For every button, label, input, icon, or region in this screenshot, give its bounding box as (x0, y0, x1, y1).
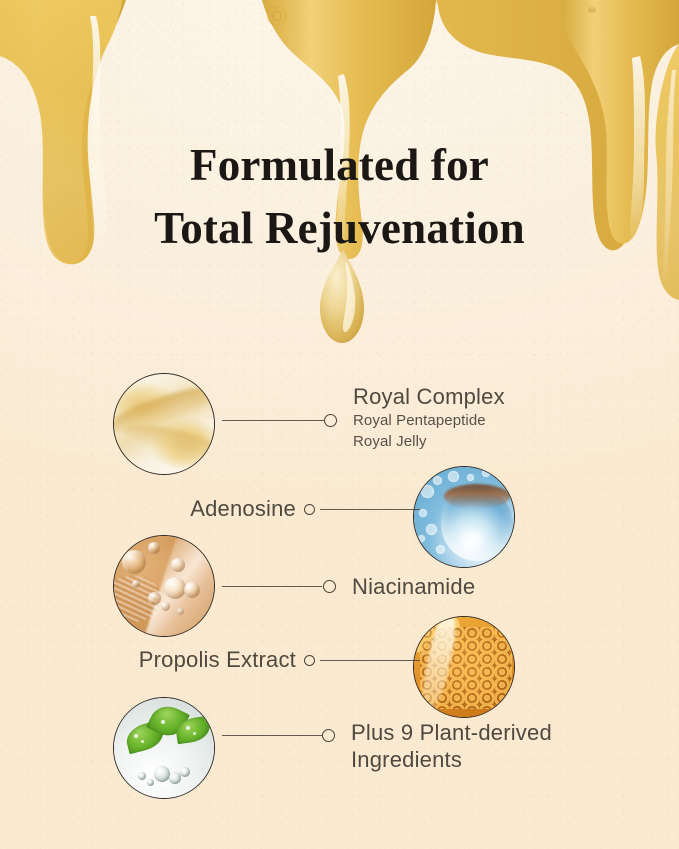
ingredient-label: Royal Complex (353, 384, 505, 410)
ingredient-labels: Propolis Extract (60, 647, 296, 673)
connector-dot (324, 414, 337, 427)
green-leaves-icon (113, 697, 215, 799)
connector-dot (323, 580, 336, 593)
blue-water-droplet-icon (413, 466, 515, 568)
ingredient-sublabel: Royal Jelly (353, 431, 505, 452)
ingredient-labels: Adenosine (80, 496, 296, 522)
ingredient-sublabel: Royal Pentapeptide (353, 410, 505, 431)
connector-dot (304, 655, 315, 666)
connector-line (222, 420, 324, 421)
ingredient-labels: Royal Complex Royal Pentapeptide Royal J… (353, 384, 505, 452)
ingredient-label-line1: Plus 9 Plant-derived (351, 719, 591, 746)
connector-line (320, 509, 420, 510)
connector-line (222, 735, 322, 736)
connector-dot (322, 729, 335, 742)
ingredient-labels: Niacinamide (352, 574, 475, 600)
product-ingredient-infographic: Formulated for Total Rejuvenation Royal … (0, 0, 679, 849)
connector-dot (304, 504, 315, 515)
ingredient-label: Propolis Extract (60, 647, 296, 673)
royal-jelly-cream-icon (113, 373, 215, 475)
ingredient-list: Royal Complex Royal Pentapeptide Royal J… (0, 0, 679, 849)
ingredient-labels: Plus 9 Plant-derived Ingredients (351, 719, 591, 773)
ingredient-label: Niacinamide (352, 574, 475, 600)
connector-line (222, 586, 322, 587)
ingredient-label: Adenosine (80, 496, 296, 522)
honeycomb-icon (413, 616, 515, 718)
connector-line (320, 660, 420, 661)
amber-bubbles-icon (113, 535, 215, 637)
ingredient-label-line2: Ingredients (351, 746, 591, 773)
